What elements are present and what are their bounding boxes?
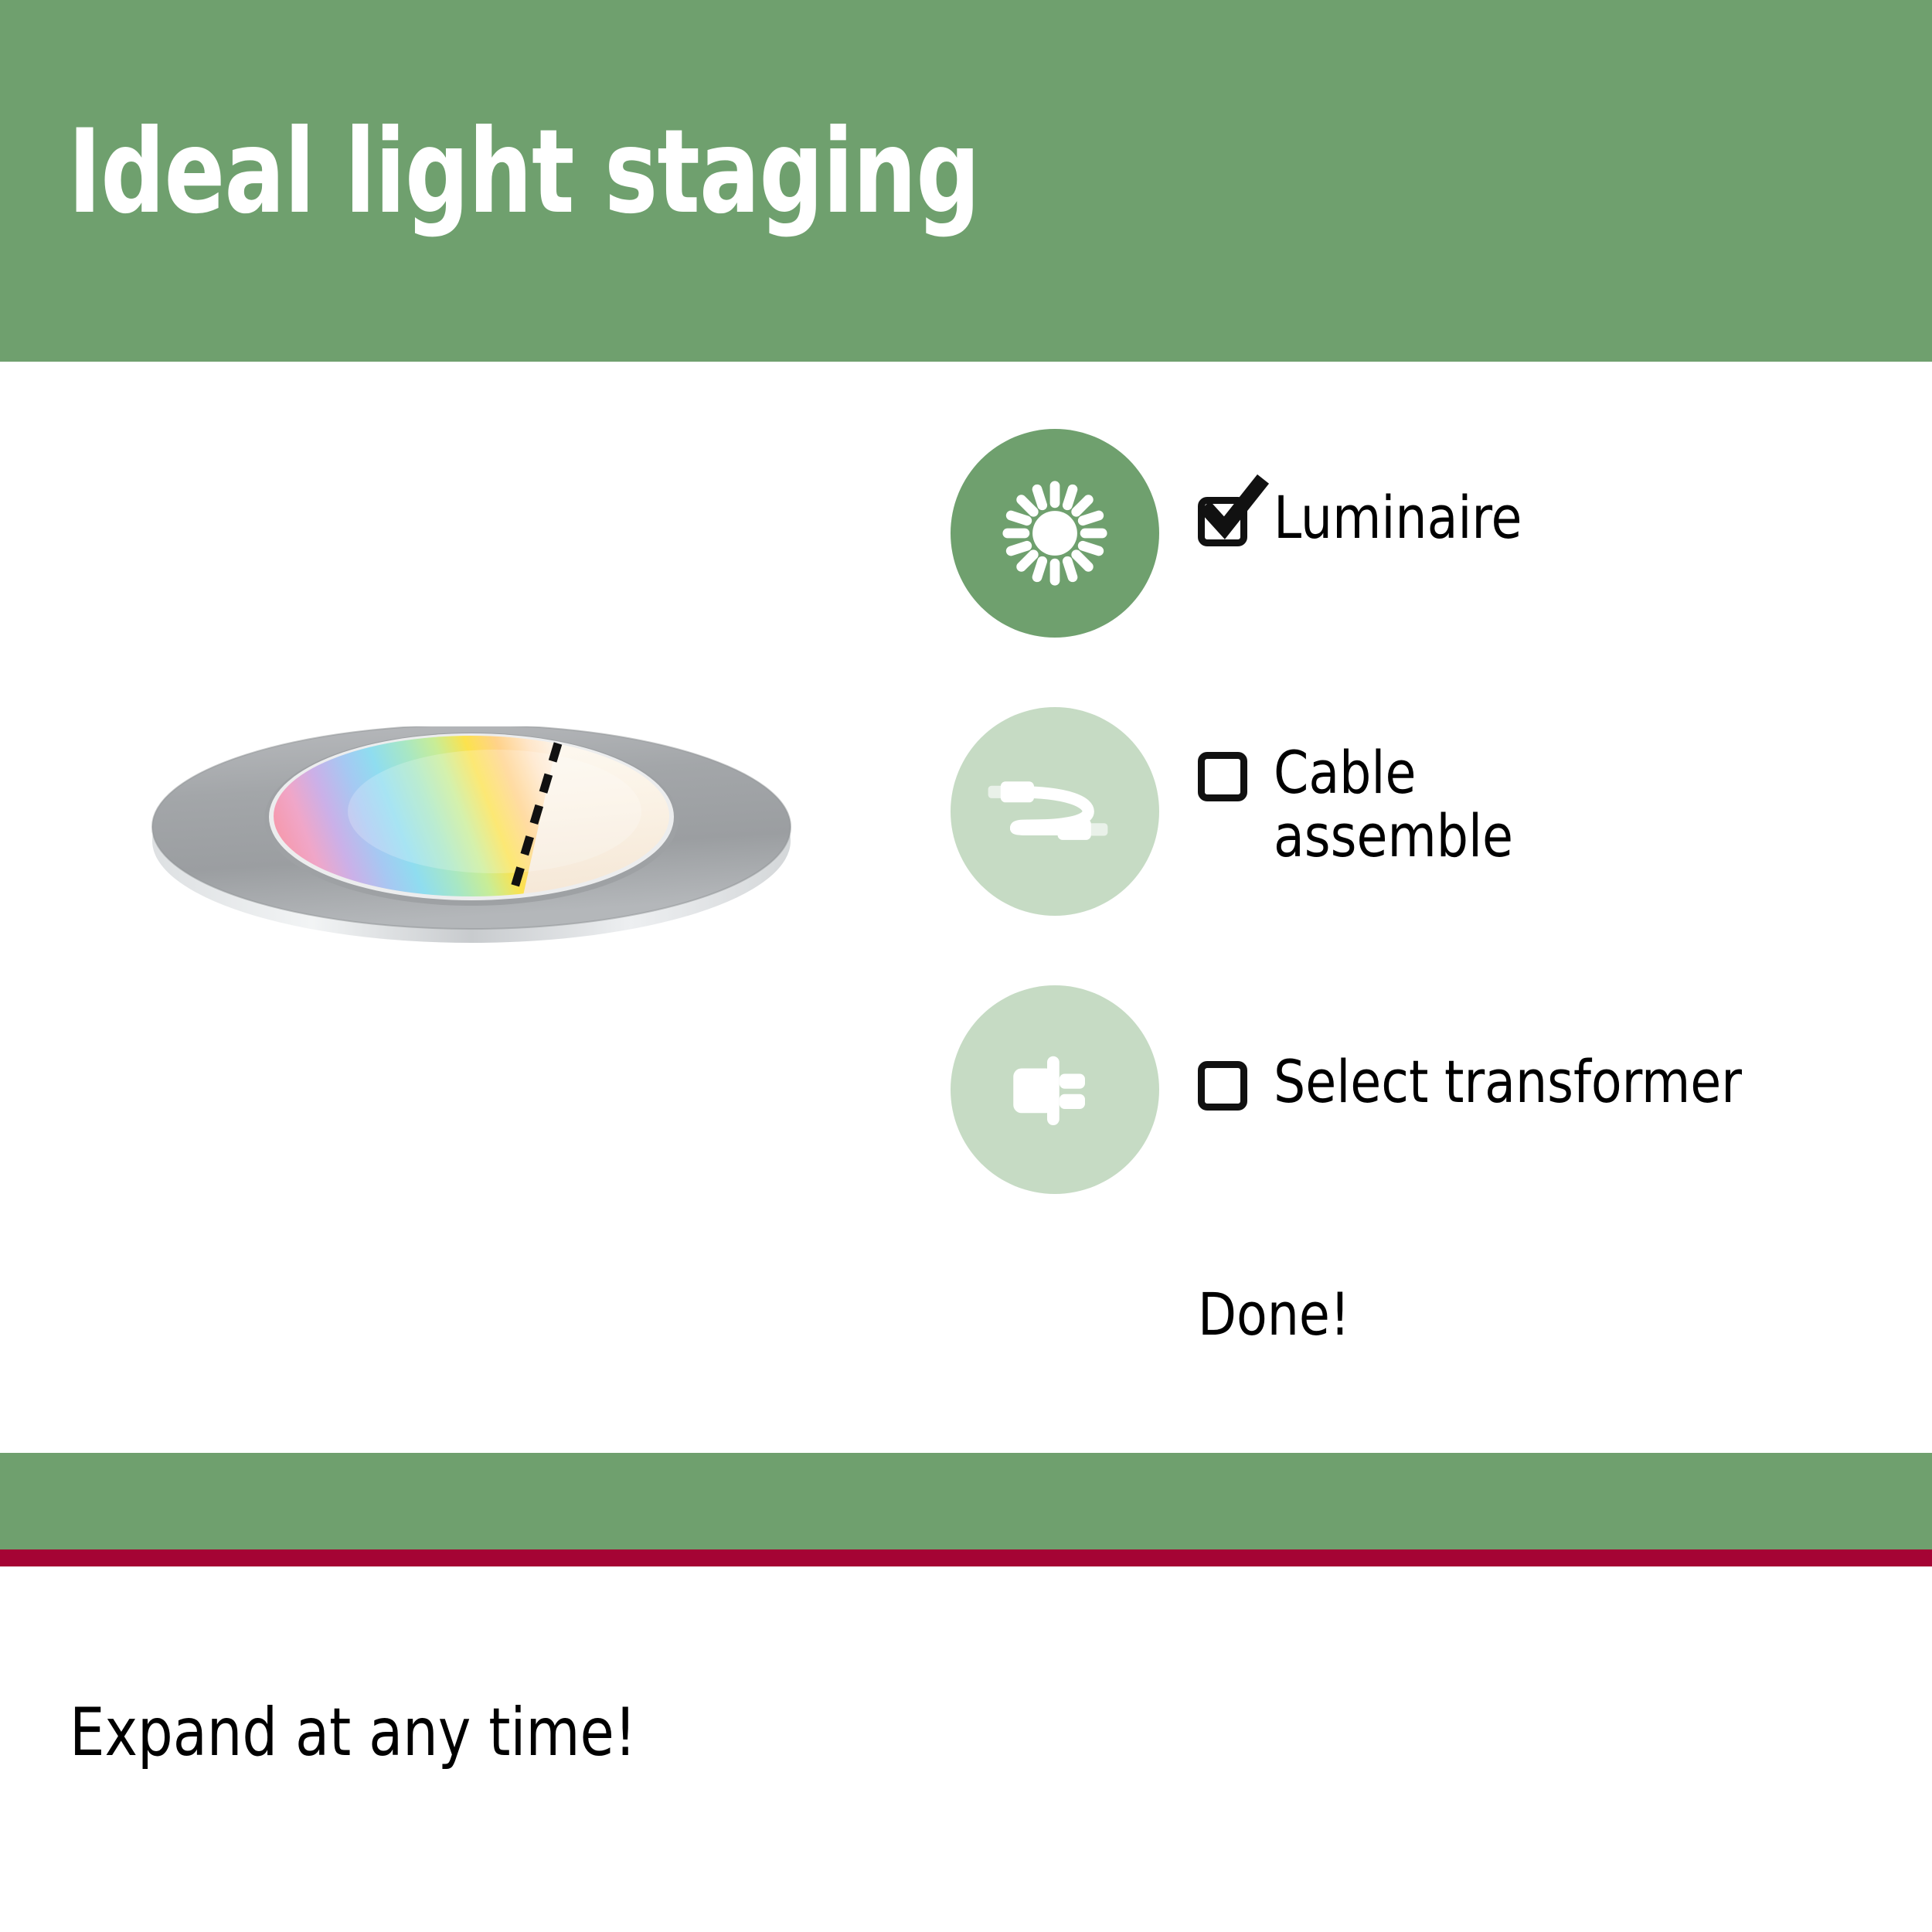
checklist-item-transformer[interactable]: Select transformer: [1198, 1061, 1767, 1114]
sun-icon: [989, 468, 1121, 599]
checklist-row-cable[interactable]: Cable assemble: [951, 707, 1924, 985]
page-title: Ideal light staging: [68, 114, 980, 230]
checklist: Luminaire Cable assemble: [951, 429, 1924, 1217]
sun-icon-badge: [951, 429, 1159, 638]
product-image-recessed-floor-luminaire: [131, 726, 811, 981]
checkbox-cable-assemble[interactable]: [1198, 752, 1247, 801]
checklist-row-luminaire[interactable]: Luminaire: [951, 429, 1924, 707]
footer-red-accent-band: [0, 1549, 1932, 1566]
checklist-item-luminaire[interactable]: Luminaire: [1198, 497, 1535, 549]
check-mark-icon: [1195, 473, 1269, 547]
luminaire-illustration: [131, 726, 811, 981]
power-plug-icon-badge: [951, 985, 1159, 1194]
checklist-label-cable-assemble: Cable assemble: [1274, 741, 1513, 868]
power-plug-icon: [988, 1022, 1123, 1158]
checklist-label-luminaire: Luminaire: [1274, 486, 1522, 549]
done-text: Done!: [1198, 1283, 1350, 1346]
cable-icon: [985, 742, 1124, 881]
cable-icon-badge: [951, 707, 1159, 916]
checklist-row-transformer[interactable]: Select transformer: [951, 985, 1924, 1217]
header-band: Ideal light staging: [0, 0, 1932, 362]
footer-tagline: Expand at any time!: [70, 1697, 637, 1768]
footer-green-band: [0, 1453, 1932, 1549]
checkbox-select-transformer[interactable]: [1198, 1061, 1247, 1111]
checklist-item-cable[interactable]: Cable assemble: [1198, 752, 1526, 868]
checkbox-luminaire[interactable]: [1198, 497, 1247, 546]
checklist-label-select-transformer: Select transformer: [1274, 1050, 1742, 1114]
